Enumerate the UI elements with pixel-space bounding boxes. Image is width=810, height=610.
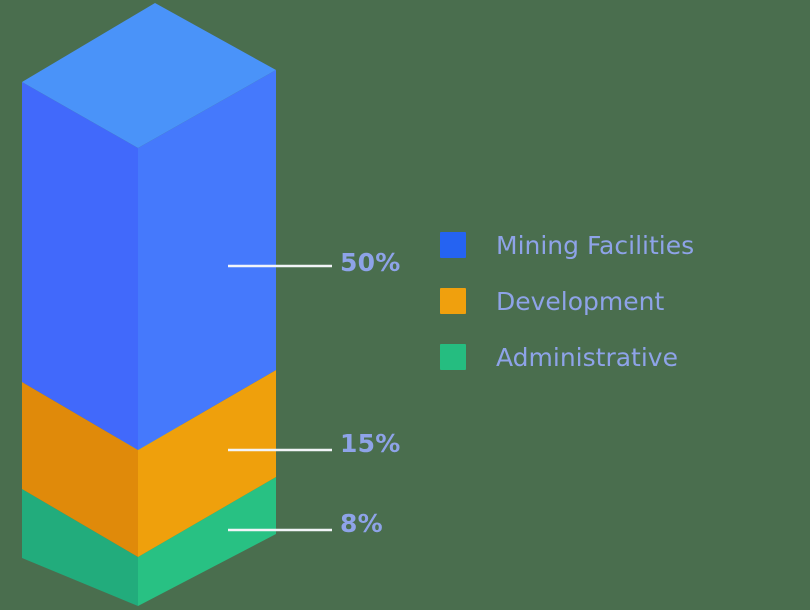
legend-label-mining-facilities: Mining Facilities xyxy=(496,233,694,258)
legend-item-development[interactable]: Development xyxy=(440,288,694,314)
chart-canvas: 50% 15% 8% Mining Facilities Development… xyxy=(0,0,810,610)
chart-legend: Mining Facilities Development Administra… xyxy=(440,232,694,370)
legend-swatch-development xyxy=(440,288,466,314)
legend-label-administrative: Administrative xyxy=(496,345,678,370)
legend-swatch-mining-facilities xyxy=(440,232,466,258)
value-label-administrative: 8% xyxy=(340,511,383,536)
legend-item-mining-facilities[interactable]: Mining Facilities xyxy=(440,232,694,258)
value-label-development: 15% xyxy=(340,431,400,456)
legend-label-development: Development xyxy=(496,289,664,314)
legend-item-administrative[interactable]: Administrative xyxy=(440,344,694,370)
bar-segment-mining-facilities[interactable] xyxy=(22,3,276,450)
value-label-mining-facilities: 50% xyxy=(340,250,400,275)
legend-swatch-administrative xyxy=(440,344,466,370)
